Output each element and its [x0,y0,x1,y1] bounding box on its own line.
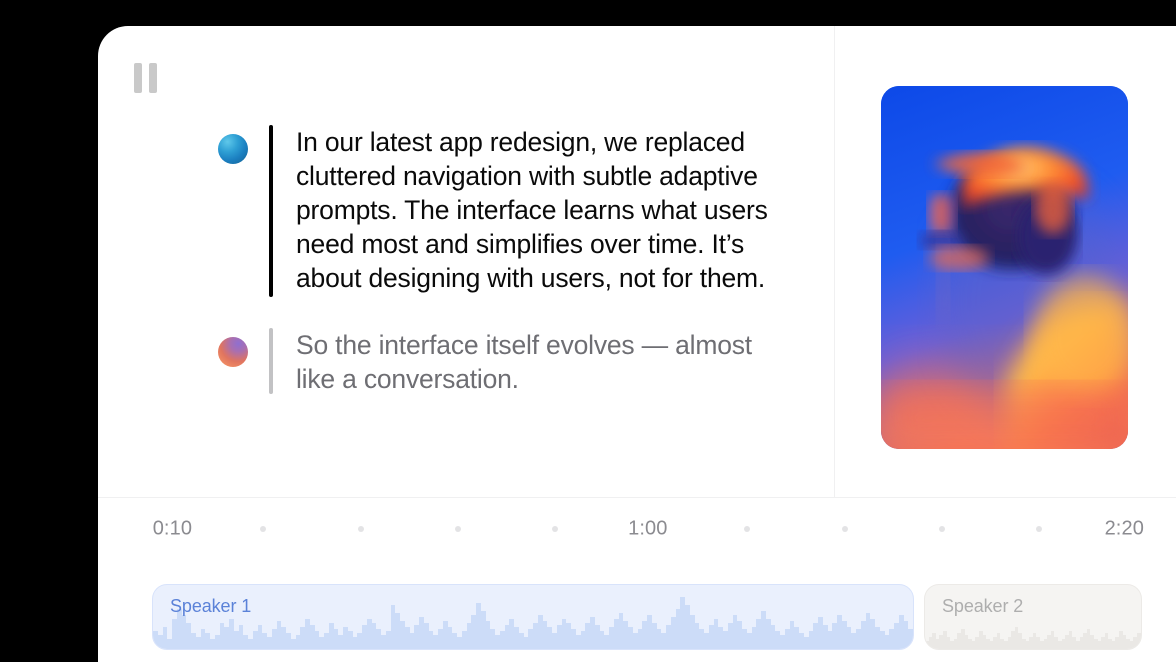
waveform-bar [1137,633,1141,649]
speaker-accent-bar [269,125,273,297]
timeline-tick-dot-glyph [455,526,461,532]
timeline-tick-dot [455,526,461,532]
timeline-tick-dot-glyph [1036,526,1042,532]
timeline-time-label: 0:10 [153,518,192,541]
vertical-divider [834,26,835,497]
timeline-tick-dot [552,526,558,532]
timeline-tick-dot-glyph [358,526,364,532]
waveform-bar [908,629,913,649]
timeline-time-text: 1:00 [628,518,667,541]
timeline-tick-dot [260,526,266,532]
speaker-track[interactable]: Speaker 2 [924,584,1142,650]
thermal-portrait-image [881,86,1128,449]
media-thumbnail[interactable] [881,86,1128,449]
timeline-tick-dot [744,526,750,532]
timeline-tick-dot-glyph [260,526,266,532]
speaker-tracks: Speaker 1 Speaker 2 [98,560,1176,662]
speaker-track-label: Speaker 1 [170,596,251,617]
transcript-entry[interactable]: In our latest app redesign, we replaced … [218,125,776,297]
transcript-area: In our latest app redesign, we replaced … [98,26,834,497]
timeline-tick-dot-glyph [842,526,848,532]
timeline-tick-dot [1036,526,1042,532]
speaker-track[interactable]: Speaker 1 [152,584,914,650]
timeline-tick-dot-glyph [744,526,750,532]
timeline-tick-dot-glyph [552,526,558,532]
speaker-track-label: Speaker 2 [942,596,1023,617]
timeline-tick-dot [842,526,848,532]
waveform [153,603,913,649]
app-root: In our latest app redesign, we replaced … [0,0,1176,662]
transcript-text: In our latest app redesign, we replaced … [296,125,776,295]
speaker-accent-bar [269,328,273,394]
timeline-tick-dot [939,526,945,532]
timeline-time-text: 0:10 [153,518,192,541]
timeline-tick-dot-glyph [939,526,945,532]
timeline-time-text: 2:20 [1105,518,1144,541]
avatar [218,337,248,367]
avatar [218,134,248,164]
transcript-entry[interactable]: So the interface itself evolves — almost… [218,328,776,396]
player-panel: In our latest app redesign, we replaced … [98,26,1176,662]
timeline-ruler[interactable]: 0:101:002:20 [98,498,1176,560]
timeline-tick-dot [358,526,364,532]
timeline-time-label: 1:00 [628,518,667,541]
timeline-time-label: 2:20 [1105,518,1144,541]
transcript-text: So the interface itself evolves — almost… [296,328,776,396]
